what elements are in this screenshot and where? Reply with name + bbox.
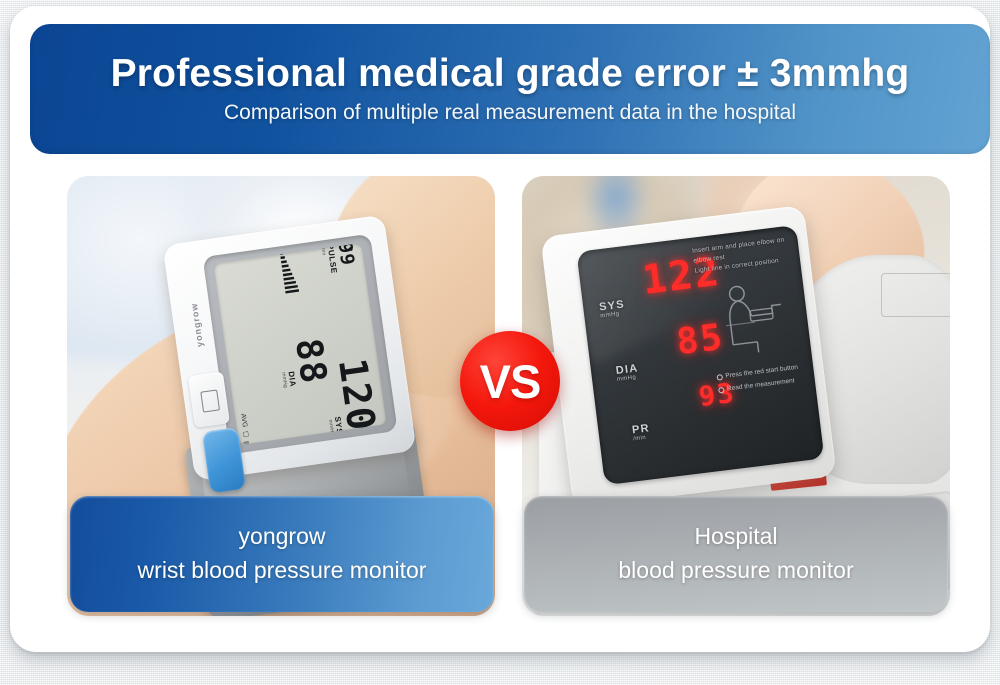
right-product-caption: Hospital blood pressure monitor	[524, 496, 948, 612]
pulse-reading-group: ♥ 99 PULSE /min	[321, 242, 358, 275]
product-info-card: Professional medical grade error ± 3mmhg…	[10, 6, 990, 652]
lcd-status-icons: AVG ☐ ▤	[239, 413, 252, 445]
header-banner: Professional medical grade error ± 3mmhg…	[30, 24, 990, 154]
lcd-bezel: ♥ 99 PULSE /min 120	[203, 233, 398, 454]
left-caption-description: wrist blood pressure monitor	[138, 556, 427, 586]
monitor-screen: 122 85 93 SYS mmHg DIA mmHg PR /min	[577, 225, 824, 485]
sys-label-group: SYS mmHg	[599, 298, 627, 319]
dia-unit: mmHg	[617, 375, 640, 384]
pressure-bar-graph	[281, 251, 300, 294]
page-title: Professional medical grade error ± 3mmhg	[111, 54, 910, 95]
memory-icon: ☐	[242, 431, 251, 438]
battery-icon: ▤	[243, 440, 252, 444]
page-subtitle: Comparison of multiple real measurement …	[224, 101, 796, 124]
dia-reading-group: 88 DIA mmHg	[277, 337, 331, 389]
hospital-blood-pressure-monitor: 122 85 93 SYS mmHg DIA mmHg PR /min	[541, 205, 838, 508]
screen-bullet-list: Press the red start button Read the meas…	[716, 361, 811, 397]
dia-value: 88	[292, 337, 331, 387]
pr-label-group: PR /min	[632, 423, 652, 443]
right-caption-brand: Hospital	[694, 522, 777, 552]
dia-label-group: DIA mmHg	[615, 363, 640, 384]
left-caption-brand: yongrow	[239, 522, 326, 552]
seated-posture-diagram-icon	[714, 274, 789, 361]
vs-label: VS	[480, 354, 541, 409]
brand-text: yongrow	[189, 302, 205, 347]
avg-indicator: AVG	[239, 413, 249, 428]
vs-badge: VS	[460, 331, 560, 431]
lcd-content: ♥ 99 PULSE /min 120	[216, 242, 385, 445]
right-caption-description: blood pressure monitor	[618, 556, 853, 586]
wrist-blood-pressure-monitor: yongrow ♥ 99 PULSE /min	[163, 214, 416, 480]
left-product-caption: yongrow wrist blood pressure monitor	[70, 496, 494, 612]
lcd-screen: ♥ 99 PULSE /min 120	[214, 242, 387, 445]
pr-unit: /min	[633, 435, 651, 443]
